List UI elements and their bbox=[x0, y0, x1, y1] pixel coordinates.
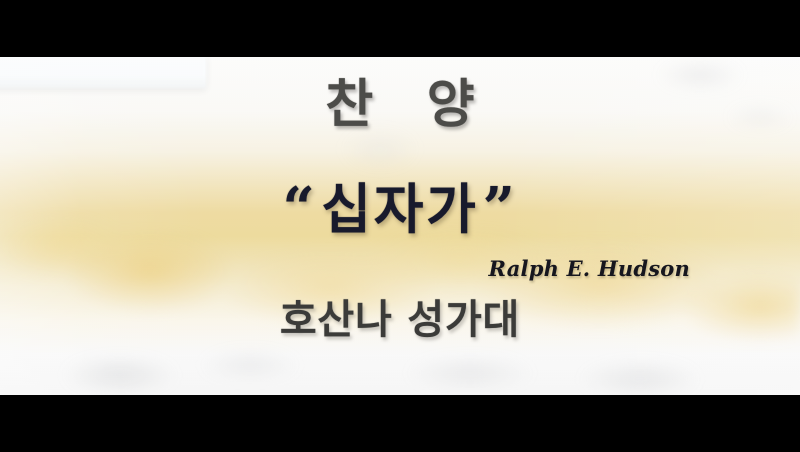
song-title: 십자가 bbox=[321, 177, 478, 241]
video-background: 찬 양 “십자가” Ralph E. Hudson 호산나 성가대 bbox=[0, 57, 800, 395]
letterbox-bar-top bbox=[0, 0, 800, 57]
title-text-block: 찬 양 “십자가” Ralph E. Hudson 호산나 성가대 bbox=[0, 57, 800, 395]
quote-open-mark: “ bbox=[283, 175, 318, 241]
song-title-line: “십자가” bbox=[0, 180, 800, 236]
quote-close-mark: ” bbox=[483, 175, 518, 241]
hymn-label: 찬 양 bbox=[0, 79, 800, 131]
video-title-card: 찬 양 “십자가” Ralph E. Hudson 호산나 성가대 bbox=[0, 0, 800, 452]
choir-name: 호산나 성가대 bbox=[0, 300, 800, 340]
letterbox-bar-bottom bbox=[0, 395, 800, 452]
composer-credit: Ralph E. Hudson bbox=[0, 258, 800, 279]
